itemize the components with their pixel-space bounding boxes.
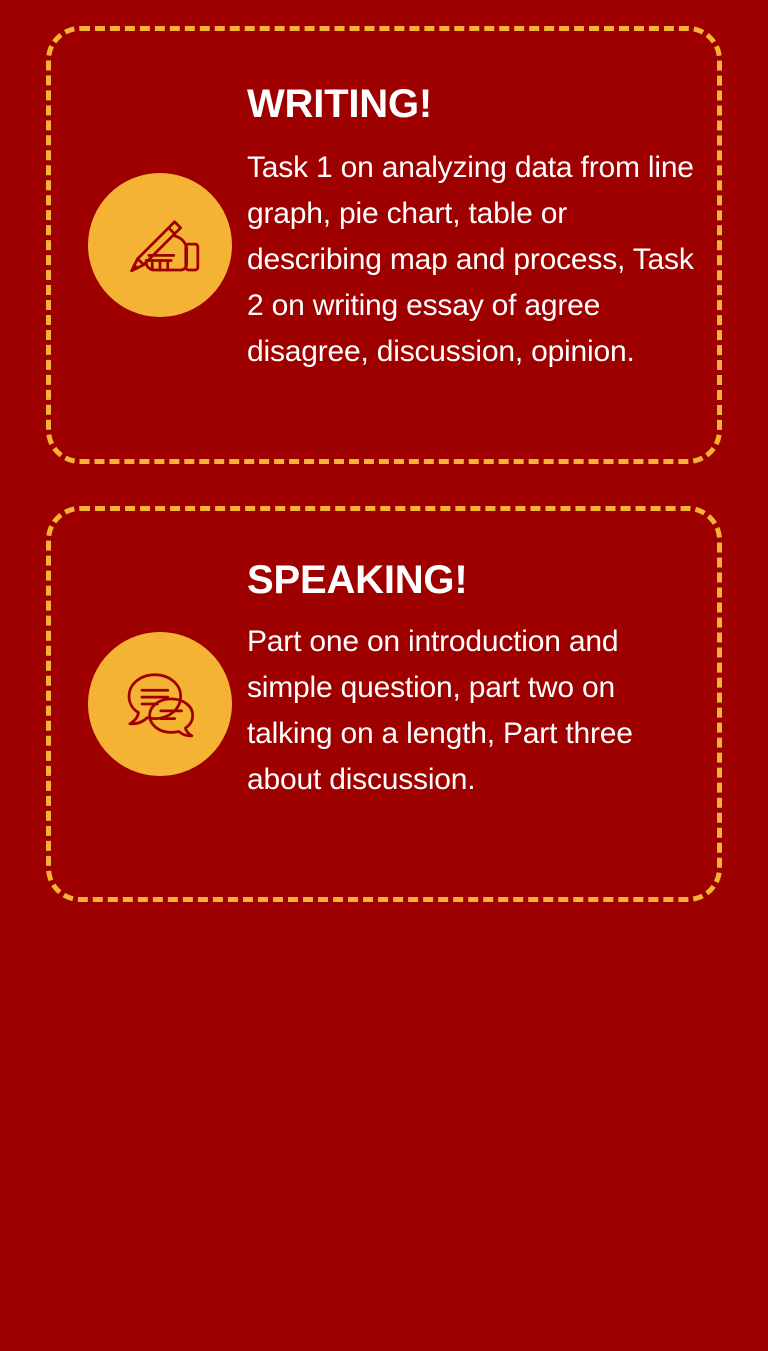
text-column-speaking: SPEAKING! Part one on introduction and s… — [247, 545, 703, 803]
icon-column-writing — [51, 173, 247, 317]
card-title-speaking: SPEAKING! — [247, 559, 697, 601]
card-writing[interactable]: WRITING! Task 1 on analyzing data from l… — [46, 26, 722, 464]
page-root: WRITING! Task 1 on analyzing data from l… — [0, 0, 768, 1351]
hand-writing-pencil-icon — [117, 202, 203, 288]
icon-column-speaking — [51, 632, 247, 776]
speech-bubbles-icon — [117, 661, 203, 747]
card-speaking[interactable]: SPEAKING! Part one on introduction and s… — [46, 506, 722, 902]
card-title-writing: WRITING! — [247, 83, 697, 125]
text-column-writing: WRITING! Task 1 on analyzing data from l… — [247, 65, 703, 374]
empty-area — [46, 902, 722, 1342]
icon-badge-writing — [88, 173, 232, 317]
card-body-speaking: Part one on introduction and simple ques… — [247, 619, 697, 803]
card-body-writing: Task 1 on analyzing data from line graph… — [247, 145, 697, 374]
icon-badge-speaking — [88, 632, 232, 776]
